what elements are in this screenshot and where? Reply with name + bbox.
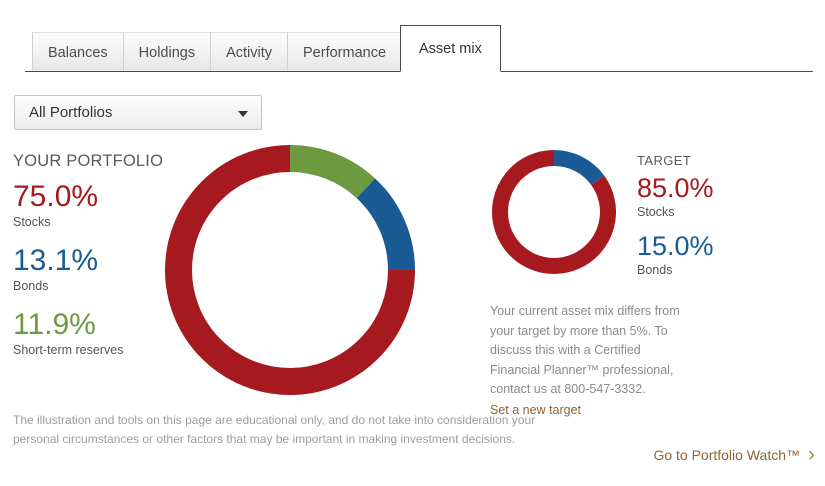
tab-bar: Balances Holdings Activity Performance A… bbox=[0, 0, 825, 73]
go-to-portfolio-watch-label: Go to Portfolio Watch™ bbox=[653, 447, 800, 463]
your-portfolio-reserves-percent: 11.9% bbox=[13, 308, 173, 342]
tab-holdings[interactable]: Holdings bbox=[123, 32, 210, 72]
portfolio-select[interactable]: All Portfolios bbox=[14, 95, 262, 130]
portfolio-select-value: All Portfolios bbox=[29, 96, 112, 129]
target-heading: TARGET bbox=[637, 153, 817, 168]
your-portfolio-stocks-label: Stocks bbox=[13, 215, 173, 229]
advisory-message: Your current asset mix differs from your… bbox=[490, 302, 690, 420]
chevron-down-icon bbox=[238, 111, 248, 117]
disclaimer-text: The illustration and tools on this page … bbox=[13, 411, 573, 449]
tab-activity[interactable]: Activity bbox=[210, 32, 287, 72]
target-stocks-percent: 85.0% bbox=[637, 173, 817, 204]
donut-slice-short-term-reserves bbox=[290, 159, 366, 189]
target-bonds-percent: 15.0% bbox=[637, 231, 817, 262]
target-donut-chart bbox=[492, 150, 616, 274]
tab-balances[interactable]: Balances bbox=[32, 32, 123, 72]
your-portfolio-bonds-percent: 13.1% bbox=[13, 244, 173, 278]
your-portfolio-legend: YOUR PORTFOLIO 75.0% Stocks 13.1% Bonds … bbox=[13, 152, 173, 372]
donut-slice-bonds bbox=[554, 158, 598, 180]
your-portfolio-bonds-label: Bonds bbox=[13, 279, 173, 293]
donut-slices bbox=[179, 159, 402, 382]
your-portfolio-heading: YOUR PORTFOLIO bbox=[13, 152, 173, 171]
donut-slices bbox=[500, 158, 608, 266]
target-legend: TARGET 85.0% Stocks 15.0% Bonds bbox=[637, 153, 817, 289]
go-to-portfolio-watch-link[interactable]: Go to Portfolio Watch™ › bbox=[653, 446, 815, 464]
advisory-text: Your current asset mix differs from your… bbox=[490, 304, 680, 396]
your-portfolio-reserves-label: Short-term reserves bbox=[13, 343, 173, 357]
target-bonds-label: Bonds bbox=[637, 263, 817, 277]
donut-slice-bonds bbox=[366, 188, 402, 270]
tab-performance[interactable]: Performance bbox=[287, 32, 401, 72]
tab-asset-mix[interactable]: Asset mix bbox=[400, 25, 501, 72]
your-portfolio-donut-chart bbox=[165, 145, 415, 395]
chevron-right-icon: › bbox=[808, 446, 815, 464]
target-stocks-label: Stocks bbox=[637, 205, 817, 219]
tab-list: Balances Holdings Activity Performance A… bbox=[32, 25, 501, 72]
your-portfolio-stocks-percent: 75.0% bbox=[13, 180, 173, 214]
